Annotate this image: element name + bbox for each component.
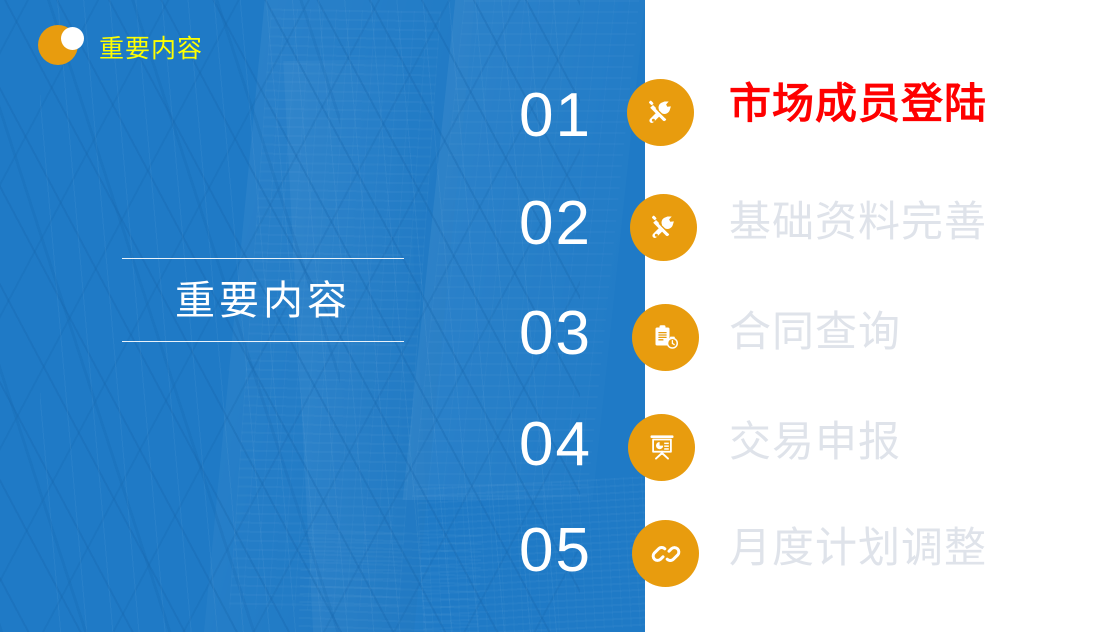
item-number: 02: [519, 193, 592, 255]
item-number: 01: [519, 85, 592, 147]
item-number: 03: [519, 303, 592, 365]
list-item[interactable]: 01 市场成员登陆: [0, 60, 1119, 170]
list-item[interactable]: 02 基础资料完善: [0, 167, 1119, 277]
item-number: 04: [519, 414, 592, 476]
item-number: 05: [519, 520, 592, 582]
presentation-chart-icon[interactable]: [628, 414, 695, 481]
item-label[interactable]: 市场成员登陆: [729, 83, 987, 125]
item-label[interactable]: 月度计划调整: [729, 527, 987, 569]
list-item[interactable]: 04 交易申报: [0, 387, 1119, 497]
tools-icon[interactable]: [627, 79, 694, 146]
slide: 重要内容 重要内容 01: [0, 0, 1119, 632]
clipboard-timer-icon[interactable]: [632, 304, 699, 371]
item-label[interactable]: 交易申报: [729, 421, 901, 463]
item-label[interactable]: 合同查询: [729, 311, 901, 353]
list-item[interactable]: 03 合同查询: [0, 277, 1119, 387]
agenda-list: 01 市场成员登陆 02: [0, 0, 1119, 632]
link-chain-icon[interactable]: [632, 520, 699, 587]
list-item[interactable]: 05 月度计划调整: [0, 493, 1119, 603]
item-label[interactable]: 基础资料完善: [729, 201, 987, 243]
tools-icon[interactable]: [630, 194, 697, 261]
